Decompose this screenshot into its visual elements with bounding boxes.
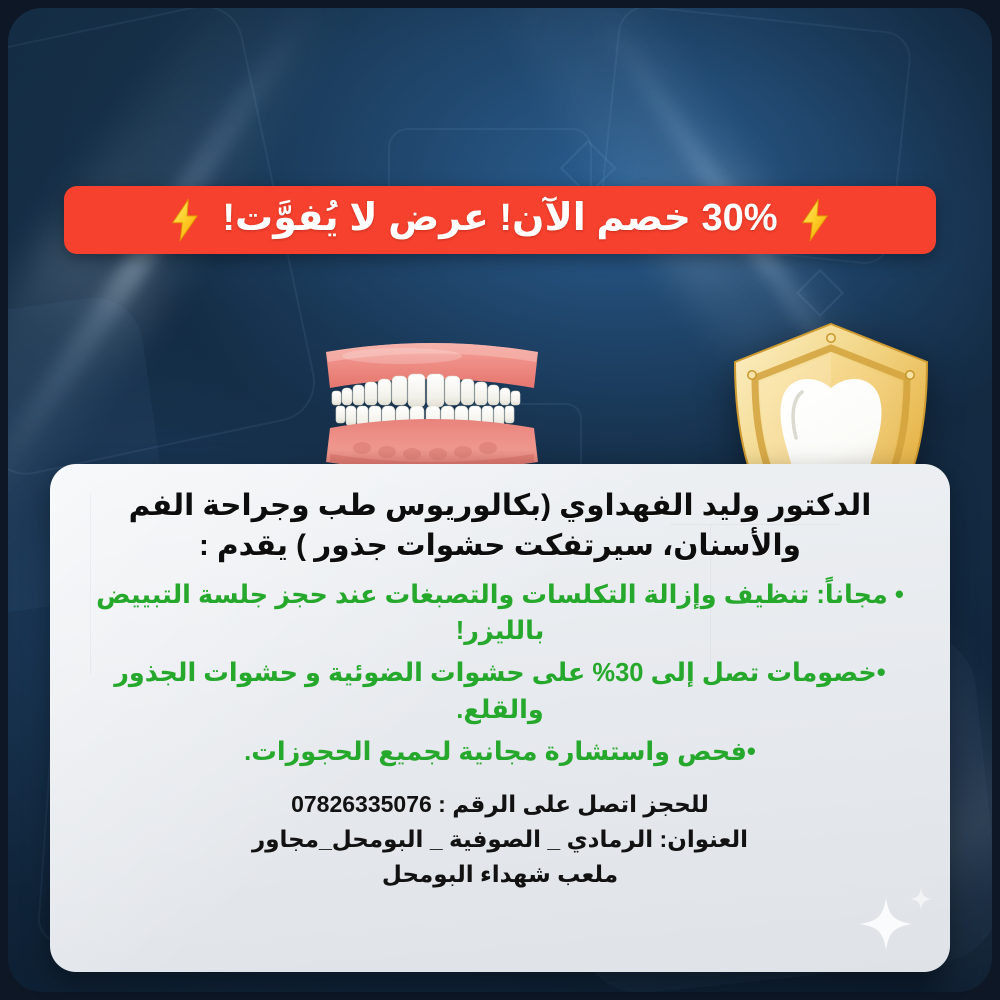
offers-list: • مجاناً: تنظيف وإزالة التكلسات والتصبغا… xyxy=(80,577,920,770)
promo-poster: 30% خصم الآن! عرض لا يُفوَّت! xyxy=(0,0,1000,1000)
page-title: الدكتور وليد الفهداوي (بكالوريوس طب وجرا… xyxy=(80,486,920,565)
info-card: الدكتور وليد الفهداوي (بكالوريوس طب وجرا… xyxy=(50,464,950,972)
offer-item: • مجاناً: تنظيف وإزالة التكلسات والتصبغا… xyxy=(80,577,920,649)
lightning-bolt-icon xyxy=(168,198,202,242)
lightning-bolt-icon xyxy=(798,198,832,242)
discount-banner: 30% خصم الآن! عرض لا يُفوَّت! xyxy=(64,186,936,254)
sparkle-icon xyxy=(860,898,912,950)
dental-teeth-model-image xyxy=(312,336,552,476)
contact-block: للحجز اتصل على الرقم : 07826335076 العنو… xyxy=(80,787,920,892)
offer-item: •فحص واستشارة مجانية لجميع الحجوزات. xyxy=(80,734,920,770)
sparkle-icon xyxy=(910,888,932,910)
discount-banner-text: 30% خصم الآن! عرض لا يُفوَّت! xyxy=(222,199,777,241)
contact-phone-line[interactable]: للحجز اتصل على الرقم : 07826335076 xyxy=(80,787,920,822)
contact-address-line-1: العنوان: الرمادي _ الصوفية _ البومحل_مجا… xyxy=(80,822,920,857)
offer-item: •خصومات تصل إلى 30% على حشوات الضوئية و … xyxy=(80,655,920,727)
contact-address-line-2: ملعب شهداء البومحل xyxy=(80,857,920,892)
